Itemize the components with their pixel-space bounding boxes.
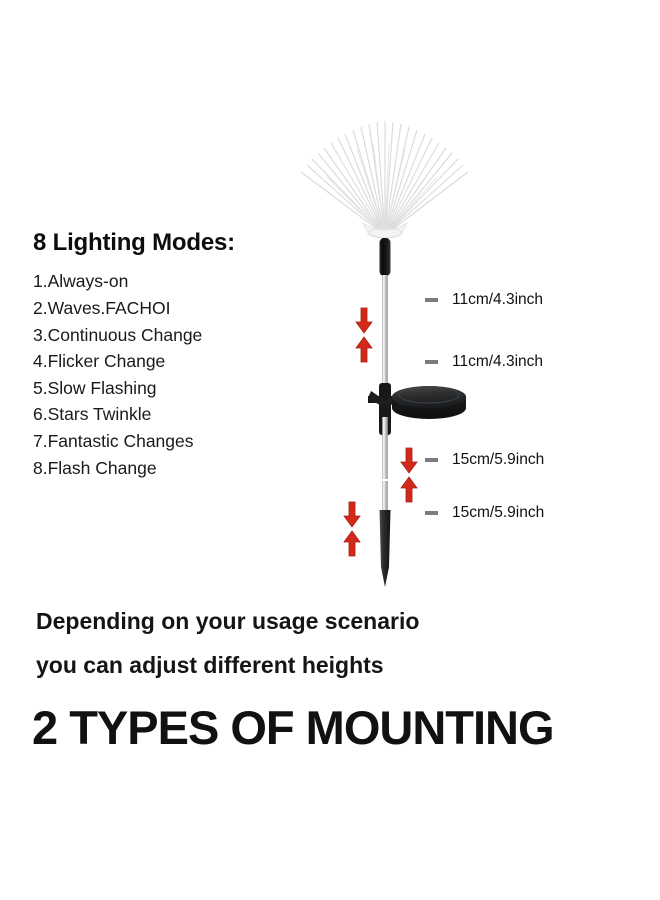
dimension-label: 15cm/5.9inch [452, 451, 544, 469]
arrow-up-icon [356, 337, 372, 362]
caption-line-1: Depending on your usage scenario [36, 608, 419, 635]
caption-line-2: you can adjust different heights [36, 652, 384, 679]
dimension-label: 15cm/5.9inch [452, 504, 544, 522]
arrow-up-icon [401, 477, 417, 502]
upper-rod [382, 275, 388, 400]
ground-stake [380, 510, 391, 587]
adjust-arrows-mid-rod [396, 446, 422, 504]
led-housing [380, 238, 391, 276]
dimension-15cm-upper: 15cm/5.9inch [425, 436, 544, 484]
arrow-down-icon [356, 308, 372, 333]
adjust-arrows-upper-rod [351, 306, 377, 364]
headline: 2 TYPES OF MOUNTING [32, 700, 554, 755]
arrow-down-icon [401, 448, 417, 473]
dimension-11cm-lower: 11cm/4.3inch [425, 338, 543, 386]
product-infographic: 8 Lighting Modes: 1.Always-on 2.Waves.FA… [0, 0, 660, 900]
dimension-15cm-lower: 15cm/5.9inch [425, 489, 544, 537]
fiber-optic-fan [301, 121, 468, 235]
adjust-arrows-stake [339, 500, 365, 558]
arrow-down-icon [344, 502, 360, 527]
dimension-label: 11cm/4.3inch [452, 291, 543, 309]
lower-rod-upper [382, 417, 388, 479]
solar-panel-disc [392, 386, 466, 419]
dimension-11cm-upper: 11cm/4.3inch [425, 276, 543, 324]
arrow-up-icon [344, 531, 360, 556]
dimension-label: 11cm/4.3inch [452, 353, 543, 371]
